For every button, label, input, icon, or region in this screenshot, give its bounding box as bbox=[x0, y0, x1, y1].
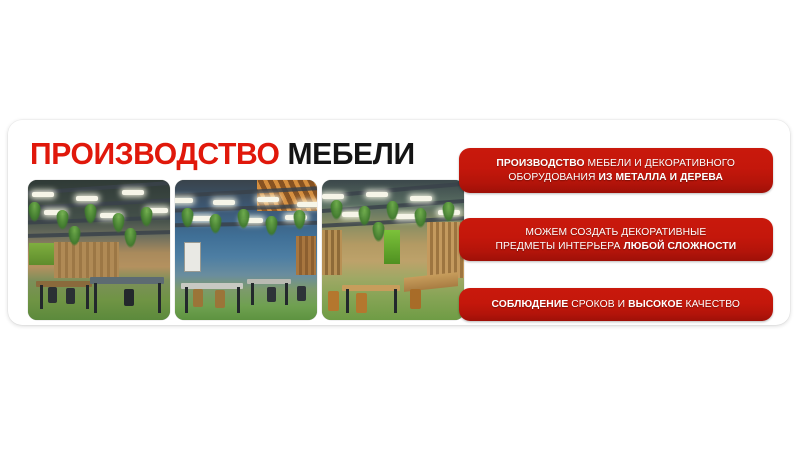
banner-left-column: ПРОИЗВОДСТВО МЕБЕЛИ bbox=[22, 132, 452, 314]
feature-badge-text: ПРОИЗВОДСТВО МЕБЕЛИ И ДЕКОРАТИВНОГООБОРУ… bbox=[497, 157, 736, 184]
gallery-photo-2[interactable] bbox=[175, 180, 317, 320]
page-title: ПРОИЗВОДСТВО МЕБЕЛИ bbox=[30, 138, 415, 169]
feature-badge-quality[interactable]: СОБЛЮДЕНИЕ СРОКОВ И ВЫСОКОЕ КАЧЕСТВО bbox=[459, 288, 773, 321]
feature-badge-production[interactable]: ПРОИЗВОДСТВО МЕБЕЛИ И ДЕКОРАТИВНОГООБОРУ… bbox=[459, 148, 773, 193]
feature-badge-text: МОЖЕМ СОЗДАТЬ ДЕКОРАТИВНЫЕПРЕДМЕТЫ ИНТЕР… bbox=[496, 226, 737, 253]
banner-stage: ПРОИЗВОДСТВО МЕБЕЛИ bbox=[0, 0, 800, 450]
ceiling-structure-icon bbox=[175, 180, 317, 244]
headline-accent-word: ПРОИЗВОДСТВО bbox=[30, 136, 280, 171]
gallery-photo-3[interactable] bbox=[322, 180, 464, 320]
ceiling-structure-icon bbox=[28, 180, 170, 244]
feature-badge-text: СОБЛЮДЕНИЕ СРОКОВ И ВЫСОКОЕ КАЧЕСТВО bbox=[492, 298, 740, 312]
promo-banner-card: ПРОИЗВОДСТВО МЕБЕЛИ bbox=[8, 120, 790, 325]
feature-badge-custom-items[interactable]: МОЖЕМ СОЗДАТЬ ДЕКОРАТИВНЫЕПРЕДМЕТЫ ИНТЕР… bbox=[459, 218, 773, 261]
ceiling-structure-icon bbox=[322, 180, 464, 244]
feature-badge-list: ПРОИЗВОДСТВО МЕБЕЛИ И ДЕКОРАТИВНОГООБОРУ… bbox=[459, 130, 781, 316]
headline-rest-word: МЕБЕЛИ bbox=[288, 136, 415, 171]
photo-gallery bbox=[28, 180, 466, 320]
gallery-photo-1[interactable] bbox=[28, 180, 170, 320]
